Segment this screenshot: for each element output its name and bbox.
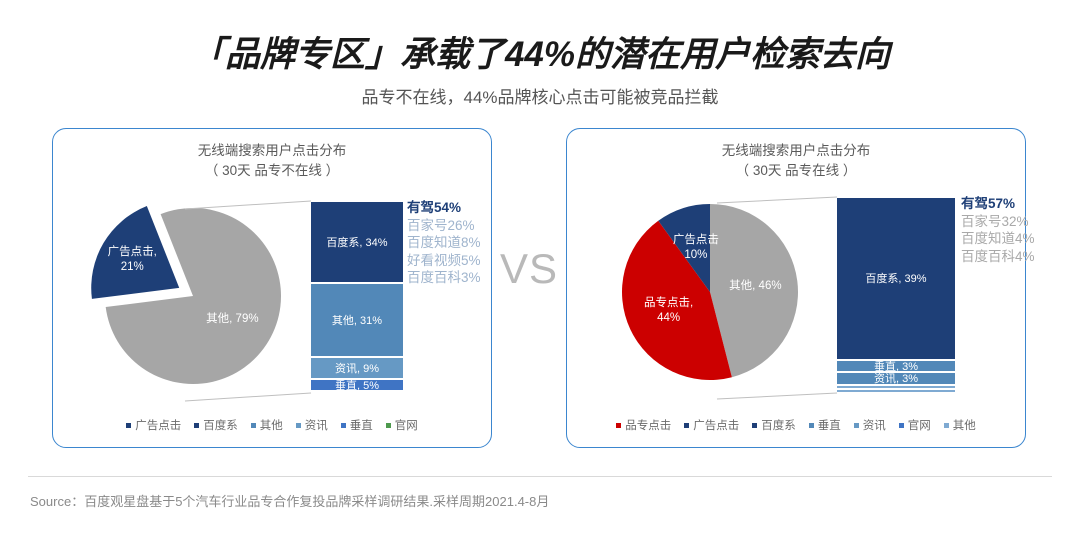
legend-item-官网[interactable]: 官网 xyxy=(386,417,418,433)
legend-swatch-icon xyxy=(752,423,757,428)
bar-segment-label-资讯: 资讯, 9% xyxy=(335,360,379,376)
bar-segment-垂直[interactable]: 垂直, 3% xyxy=(837,360,955,373)
panel-left-title-line1: 无线端搜索用户点击分布 xyxy=(198,143,347,158)
bar-segment-百度系[interactable]: 百度系, 34% xyxy=(311,201,403,283)
legend-swatch-icon xyxy=(251,423,256,428)
legend-item-垂直[interactable]: 垂直 xyxy=(341,417,373,433)
panel-right-title: 无线端搜索用户点击分布 （ 30天 品专在线 ） xyxy=(567,141,1025,181)
legend-swatch-icon xyxy=(296,423,301,428)
legend-label: 百度系 xyxy=(761,417,796,433)
legend-item-品专点击[interactable]: 品专点击 xyxy=(616,417,671,433)
legend-label: 垂直 xyxy=(350,417,373,433)
source-note: Source：百度观星盘基于5个汽车行业品专合作复投品牌采样调研结果.采样周期2… xyxy=(30,492,549,512)
legend-item-其他[interactable]: 其他 xyxy=(251,417,283,433)
bar-segment-资讯[interactable]: 资讯, 3% xyxy=(837,372,955,385)
legend-label: 百度系 xyxy=(203,417,238,433)
legend-label: 品专点击 xyxy=(625,417,671,433)
legend-label: 垂直 xyxy=(818,417,841,433)
legend-swatch-icon xyxy=(386,423,391,428)
panel-left-title-line2: （ 30天 品专不在线 ） xyxy=(53,161,491,181)
breakdown-item: 好看视频5% xyxy=(407,252,481,270)
pie-svg xyxy=(73,191,303,406)
legend-item-资讯[interactable]: 资讯 xyxy=(854,417,886,433)
legend-label: 官网 xyxy=(395,417,418,433)
bar-segment-其他[interactable]: 其他, 31% xyxy=(311,283,403,357)
legend-item-百度系[interactable]: 百度系 xyxy=(752,417,796,433)
breakdown-item: 百家号32% xyxy=(961,213,1035,231)
bar-segment-label-百度系: 百度系, 39% xyxy=(865,270,926,286)
bar-segment-资讯[interactable]: 资讯, 9% xyxy=(311,357,403,379)
legend-right: 品专点击广告点击百度系垂直资讯官网其他 xyxy=(567,417,1025,433)
legend-swatch-icon xyxy=(899,423,904,428)
legend-item-其他[interactable]: 其他 xyxy=(944,417,976,433)
breakdown-list-left: 有驾54%百家号26%百度知道8%好看视频5%百度百科3% xyxy=(407,199,481,287)
page-subtitle: 品专不在线，44%品牌核心点击可能被竞品拦截 xyxy=(0,86,1080,110)
bar-segment-label-百度系: 百度系, 34% xyxy=(326,234,387,250)
panel-right-title-line2: （ 30天 品专在线 ） xyxy=(567,161,1025,181)
legend-label: 官网 xyxy=(908,417,931,433)
legend-item-资讯[interactable]: 资讯 xyxy=(296,417,328,433)
vs-divider: VS xyxy=(500,248,558,290)
legend-item-百度系[interactable]: 百度系 xyxy=(194,417,238,433)
breakdown-item: 百度百科4% xyxy=(961,248,1035,266)
bar-segment-label-其他: 其他, 31% xyxy=(332,312,382,328)
bar-segment-label-资讯: 资讯, 3% xyxy=(874,372,918,385)
bar-segment-垂直[interactable]: 垂直, 5% xyxy=(311,379,403,391)
legend-left: 广告点击百度系其他资讯垂直官网 xyxy=(53,417,491,433)
pie-chart-right: 其他, 46%品专点击,44%广告点击10% xyxy=(595,187,825,402)
legend-label: 资讯 xyxy=(305,417,328,433)
legend-label: 资讯 xyxy=(863,417,886,433)
legend-label: 其他 xyxy=(953,417,976,433)
panel-left: 无线端搜索用户点击分布 （ 30天 品专不在线 ） 其他, 79%广告点击,21… xyxy=(52,128,492,448)
stacked-bar-right: 百度系, 39%垂直, 3%资讯, 3% xyxy=(837,197,955,393)
legend-item-官网[interactable]: 官网 xyxy=(899,417,931,433)
legend-swatch-icon xyxy=(854,423,859,428)
breakdown-item: 百度百科3% xyxy=(407,269,481,287)
legend-swatch-icon xyxy=(194,423,199,428)
panel-left-title: 无线端搜索用户点击分布 （ 30天 品专不在线 ） xyxy=(53,141,491,181)
legend-label: 广告点击 xyxy=(693,417,739,433)
stacked-bar-left: 百度系, 34%其他, 31%资讯, 9%垂直, 5% xyxy=(311,201,403,393)
legend-swatch-icon xyxy=(341,423,346,428)
legend-item-广告点击[interactable]: 广告点击 xyxy=(684,417,739,433)
legend-item-垂直[interactable]: 垂直 xyxy=(809,417,841,433)
breakdown-item: 百度知道4% xyxy=(961,230,1035,248)
breakdown-list-right: 有驾57%百家号32%百度知道4%百度百科4% xyxy=(961,195,1035,265)
pie-svg xyxy=(595,187,825,402)
page-title: 「品牌专区」承载了44%的潜在用户检索去向 xyxy=(0,34,1080,76)
bar-segment-百度系[interactable]: 百度系, 39% xyxy=(837,197,955,360)
bar-segment-官网[interactable] xyxy=(311,391,403,393)
slide-root: 「品牌专区」承载了44%的潜在用户检索去向 品专不在线，44%品牌核心点击可能被… xyxy=(0,0,1080,540)
pie-chart-left: 其他, 79%广告点击,21% xyxy=(73,191,303,406)
bar-segment-label-垂直: 垂直, 5% xyxy=(335,379,379,391)
breakdown-item: 百家号26% xyxy=(407,217,481,235)
legend-swatch-icon xyxy=(684,423,689,428)
panel-right: 无线端搜索用户点击分布 （ 30天 品专在线 ） 其他, 46%品专点击,44%… xyxy=(566,128,1026,448)
legend-swatch-icon xyxy=(126,423,131,428)
legend-swatch-icon xyxy=(809,423,814,428)
panel-right-title-line1: 无线端搜索用户点击分布 xyxy=(722,143,871,158)
bar-segment-label-垂直: 垂直, 3% xyxy=(874,360,918,373)
bar-segment-其他[interactable] xyxy=(837,389,955,393)
breakdown-item: 有驾54% xyxy=(407,199,481,217)
breakdown-item: 百度知道8% xyxy=(407,234,481,252)
legend-item-广告点击[interactable]: 广告点击 xyxy=(126,417,181,433)
footer-divider xyxy=(28,476,1052,477)
legend-swatch-icon xyxy=(944,423,949,428)
legend-swatch-icon xyxy=(616,423,621,428)
legend-label: 广告点击 xyxy=(135,417,181,433)
legend-label: 其他 xyxy=(260,417,283,433)
breakdown-item: 有驾57% xyxy=(961,195,1035,213)
